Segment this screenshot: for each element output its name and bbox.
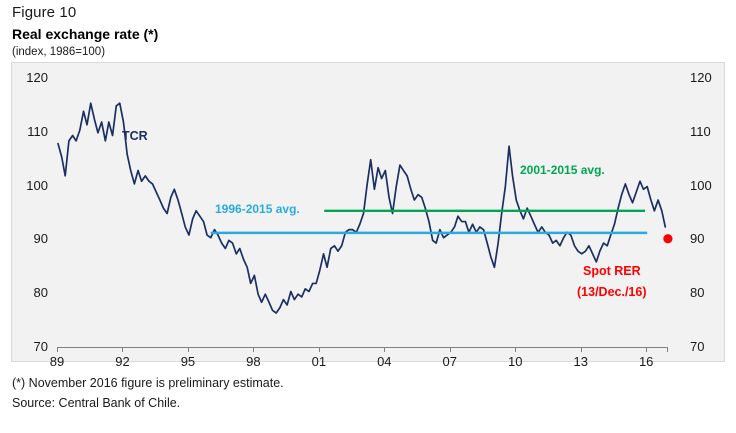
y-axis-tick-label-left: 70 — [14, 340, 48, 354]
y-axis-tick-label-left: 120 — [14, 71, 48, 85]
figure-container: Figure 10 Real exchange rate (*) (index,… — [0, 0, 736, 433]
y-axis-tick-label-right: 110 — [690, 125, 724, 139]
points-layer — [663, 234, 672, 243]
x-axis-tick-label: 04 — [367, 355, 401, 369]
y-axis-tick-label-right: 100 — [690, 179, 724, 193]
x-axis-tick-label: 10 — [498, 355, 532, 369]
y-axis-tick-label-right: 70 — [690, 340, 724, 354]
x-axis-tick-label: 92 — [105, 355, 139, 369]
series-layer — [58, 103, 665, 313]
y-axis-tick-label-right: 90 — [690, 232, 724, 246]
annotation-tcr: TCR — [122, 129, 148, 143]
x-axis-tick-label: 89 — [40, 355, 74, 369]
chart-plot-area: TCR 1996-2015 avg. 2001-2015 avg. Spot R… — [11, 62, 725, 362]
annotation-avg-2001-2015: 2001-2015 avg. — [520, 163, 605, 177]
source-note: Source: Central Bank of Chile. — [12, 396, 180, 410]
x-axis-tick-label: 16 — [629, 355, 663, 369]
y-axis-tick-label-right: 120 — [690, 71, 724, 85]
units-label: (index, 1986=100) — [12, 46, 105, 58]
y-axis-tick-label-left: 80 — [14, 286, 48, 300]
y-axis-tick-label-left: 100 — [14, 179, 48, 193]
x-axis-tick-label: 95 — [171, 355, 205, 369]
series-line-tcr — [58, 103, 665, 313]
annotation-spot-rer-date: (13/Dec./16) — [577, 285, 646, 299]
y-axis-tick-label-left: 90 — [14, 232, 48, 246]
page-title: Real exchange rate (*) — [12, 26, 158, 42]
x-axis-tick-label: 13 — [564, 355, 598, 369]
y-axis-tick-label-right: 80 — [690, 286, 724, 300]
x-axis-tick-label: 07 — [433, 355, 467, 369]
x-axis-tick-label: 01 — [302, 355, 336, 369]
y-axis-tick-label-left: 110 — [14, 125, 48, 139]
chart-svg — [12, 63, 726, 363]
annotation-avg-1996-2015: 1996-2015 avg. — [215, 202, 300, 216]
spot-rer-marker — [663, 234, 672, 243]
footnote: (*) November 2016 figure is preliminary … — [12, 376, 284, 390]
figure-number: Figure 10 — [12, 4, 76, 21]
annotation-spot-rer-title: Spot RER — [583, 264, 641, 278]
x-axis-tick-label: 98 — [236, 355, 270, 369]
